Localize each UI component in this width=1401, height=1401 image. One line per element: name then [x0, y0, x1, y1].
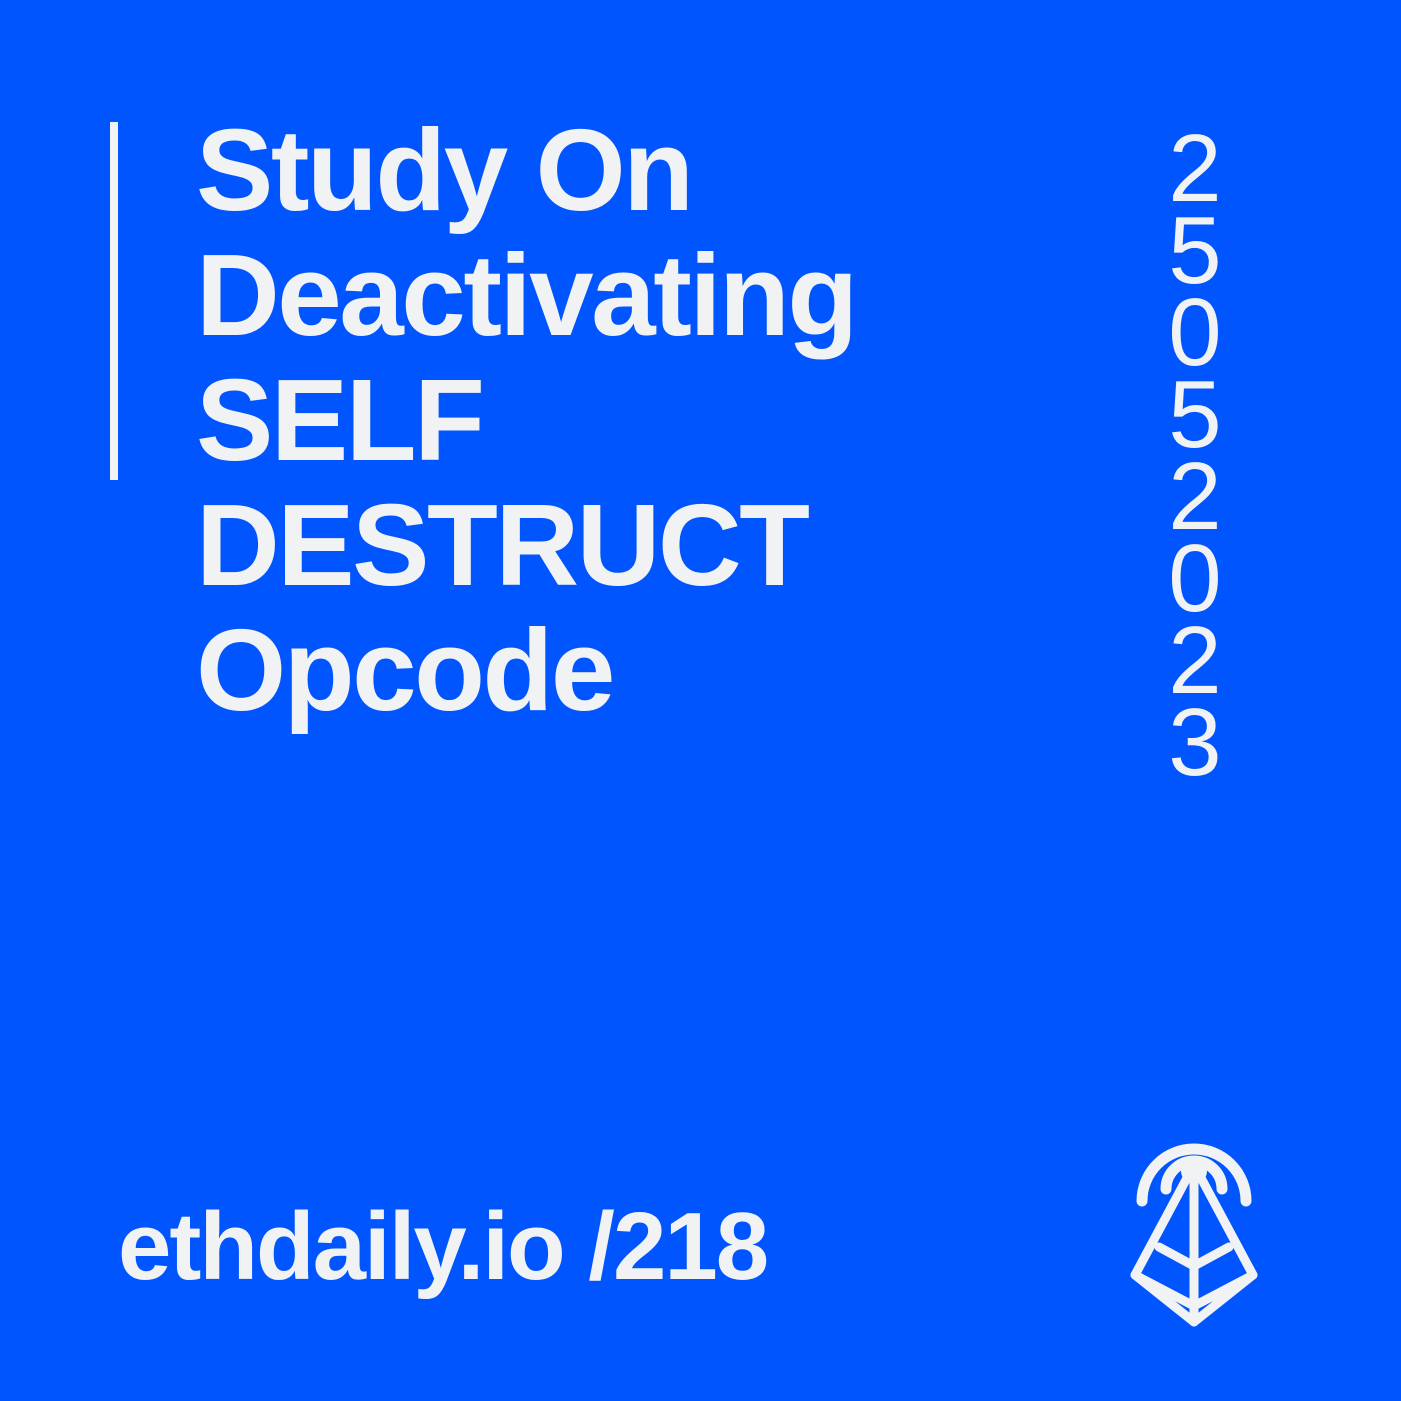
- date-digit: 3: [1168, 702, 1221, 784]
- broadcast-tower-icon: [1118, 1110, 1270, 1336]
- footer-url: ethdaily.io /218: [118, 1199, 767, 1295]
- headline-line-1: Study On: [196, 108, 1036, 233]
- date-stamp: 2 5 0 5 2 0 2 3: [1150, 128, 1240, 784]
- headline-line-5: Opcode: [196, 608, 1036, 733]
- headline-line-2: Deactivating: [196, 233, 1036, 358]
- accent-bar: [110, 122, 118, 480]
- page-title: Study On Deactivating SELF DESTRUCT Opco…: [196, 108, 1036, 733]
- poster-canvas: Study On Deactivating SELF DESTRUCT Opco…: [0, 0, 1401, 1401]
- headline-line-3: SELF: [196, 358, 1036, 483]
- headline-line-4: DESTRUCT: [196, 483, 1036, 608]
